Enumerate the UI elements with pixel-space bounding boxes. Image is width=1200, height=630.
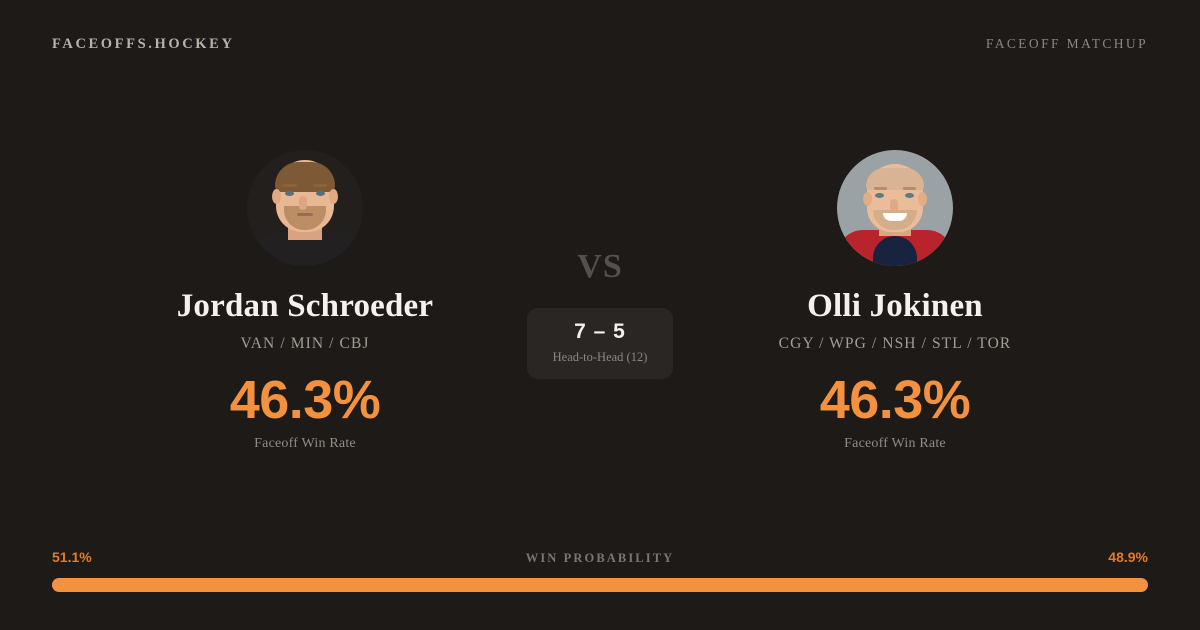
matchup-row: Jordan Schroeder VAN / MIN / CBJ 46.3% F…	[0, 150, 1200, 470]
portrait-illustration	[247, 150, 363, 266]
win-probability-bar	[52, 578, 1148, 592]
win-probability-left-value: 51.1%	[52, 549, 92, 565]
win-probability-bar-right-fill	[612, 578, 1148, 592]
versus-block: VS 7 – 5 Head-to-Head (12)	[515, 150, 685, 379]
versus-label: VS	[577, 248, 622, 286]
player-teams-left: VAN / MIN / CBJ	[240, 335, 369, 353]
win-probability-labels: 51.1% WIN PROBABILITY 48.9%	[52, 549, 1148, 566]
page-header: FACEOFFS.HOCKEY FACEOFF MATCHUP	[0, 0, 1200, 88]
portrait-illustration	[837, 150, 953, 266]
head-to-head-label: Head-to-Head (12)	[553, 350, 648, 365]
head-to-head-score: 7 – 5	[574, 321, 626, 342]
page-kicker: FACEOFF MATCHUP	[986, 36, 1148, 52]
player-name-right: Olli Jokinen	[807, 288, 983, 325]
faceoff-win-rate-label-right: Faceoff Win Rate	[844, 436, 946, 452]
win-probability-bar-left-fill	[52, 578, 612, 592]
win-probability-section: 51.1% WIN PROBABILITY 48.9%	[52, 549, 1148, 592]
player-card-left: Jordan Schroeder VAN / MIN / CBJ 46.3% F…	[95, 150, 515, 452]
faceoff-win-rate-left: 46.3%	[230, 373, 381, 427]
player-teams-right: CGY / WPG / NSH / STL / TOR	[779, 335, 1012, 353]
player-avatar-left	[247, 150, 363, 266]
player-card-right: Olli Jokinen CGY / WPG / NSH / STL / TOR…	[685, 150, 1105, 452]
faceoff-win-rate-right: 46.3%	[820, 373, 971, 427]
win-probability-title: WIN PROBABILITY	[526, 551, 675, 566]
player-avatar-right	[837, 150, 953, 266]
win-probability-right-value: 48.9%	[1108, 549, 1148, 565]
faceoff-win-rate-label-left: Faceoff Win Rate	[254, 436, 356, 452]
site-brand[interactable]: FACEOFFS.HOCKEY	[52, 36, 235, 53]
player-name-left: Jordan Schroeder	[177, 288, 434, 325]
head-to-head-badge: 7 – 5 Head-to-Head (12)	[527, 308, 674, 379]
